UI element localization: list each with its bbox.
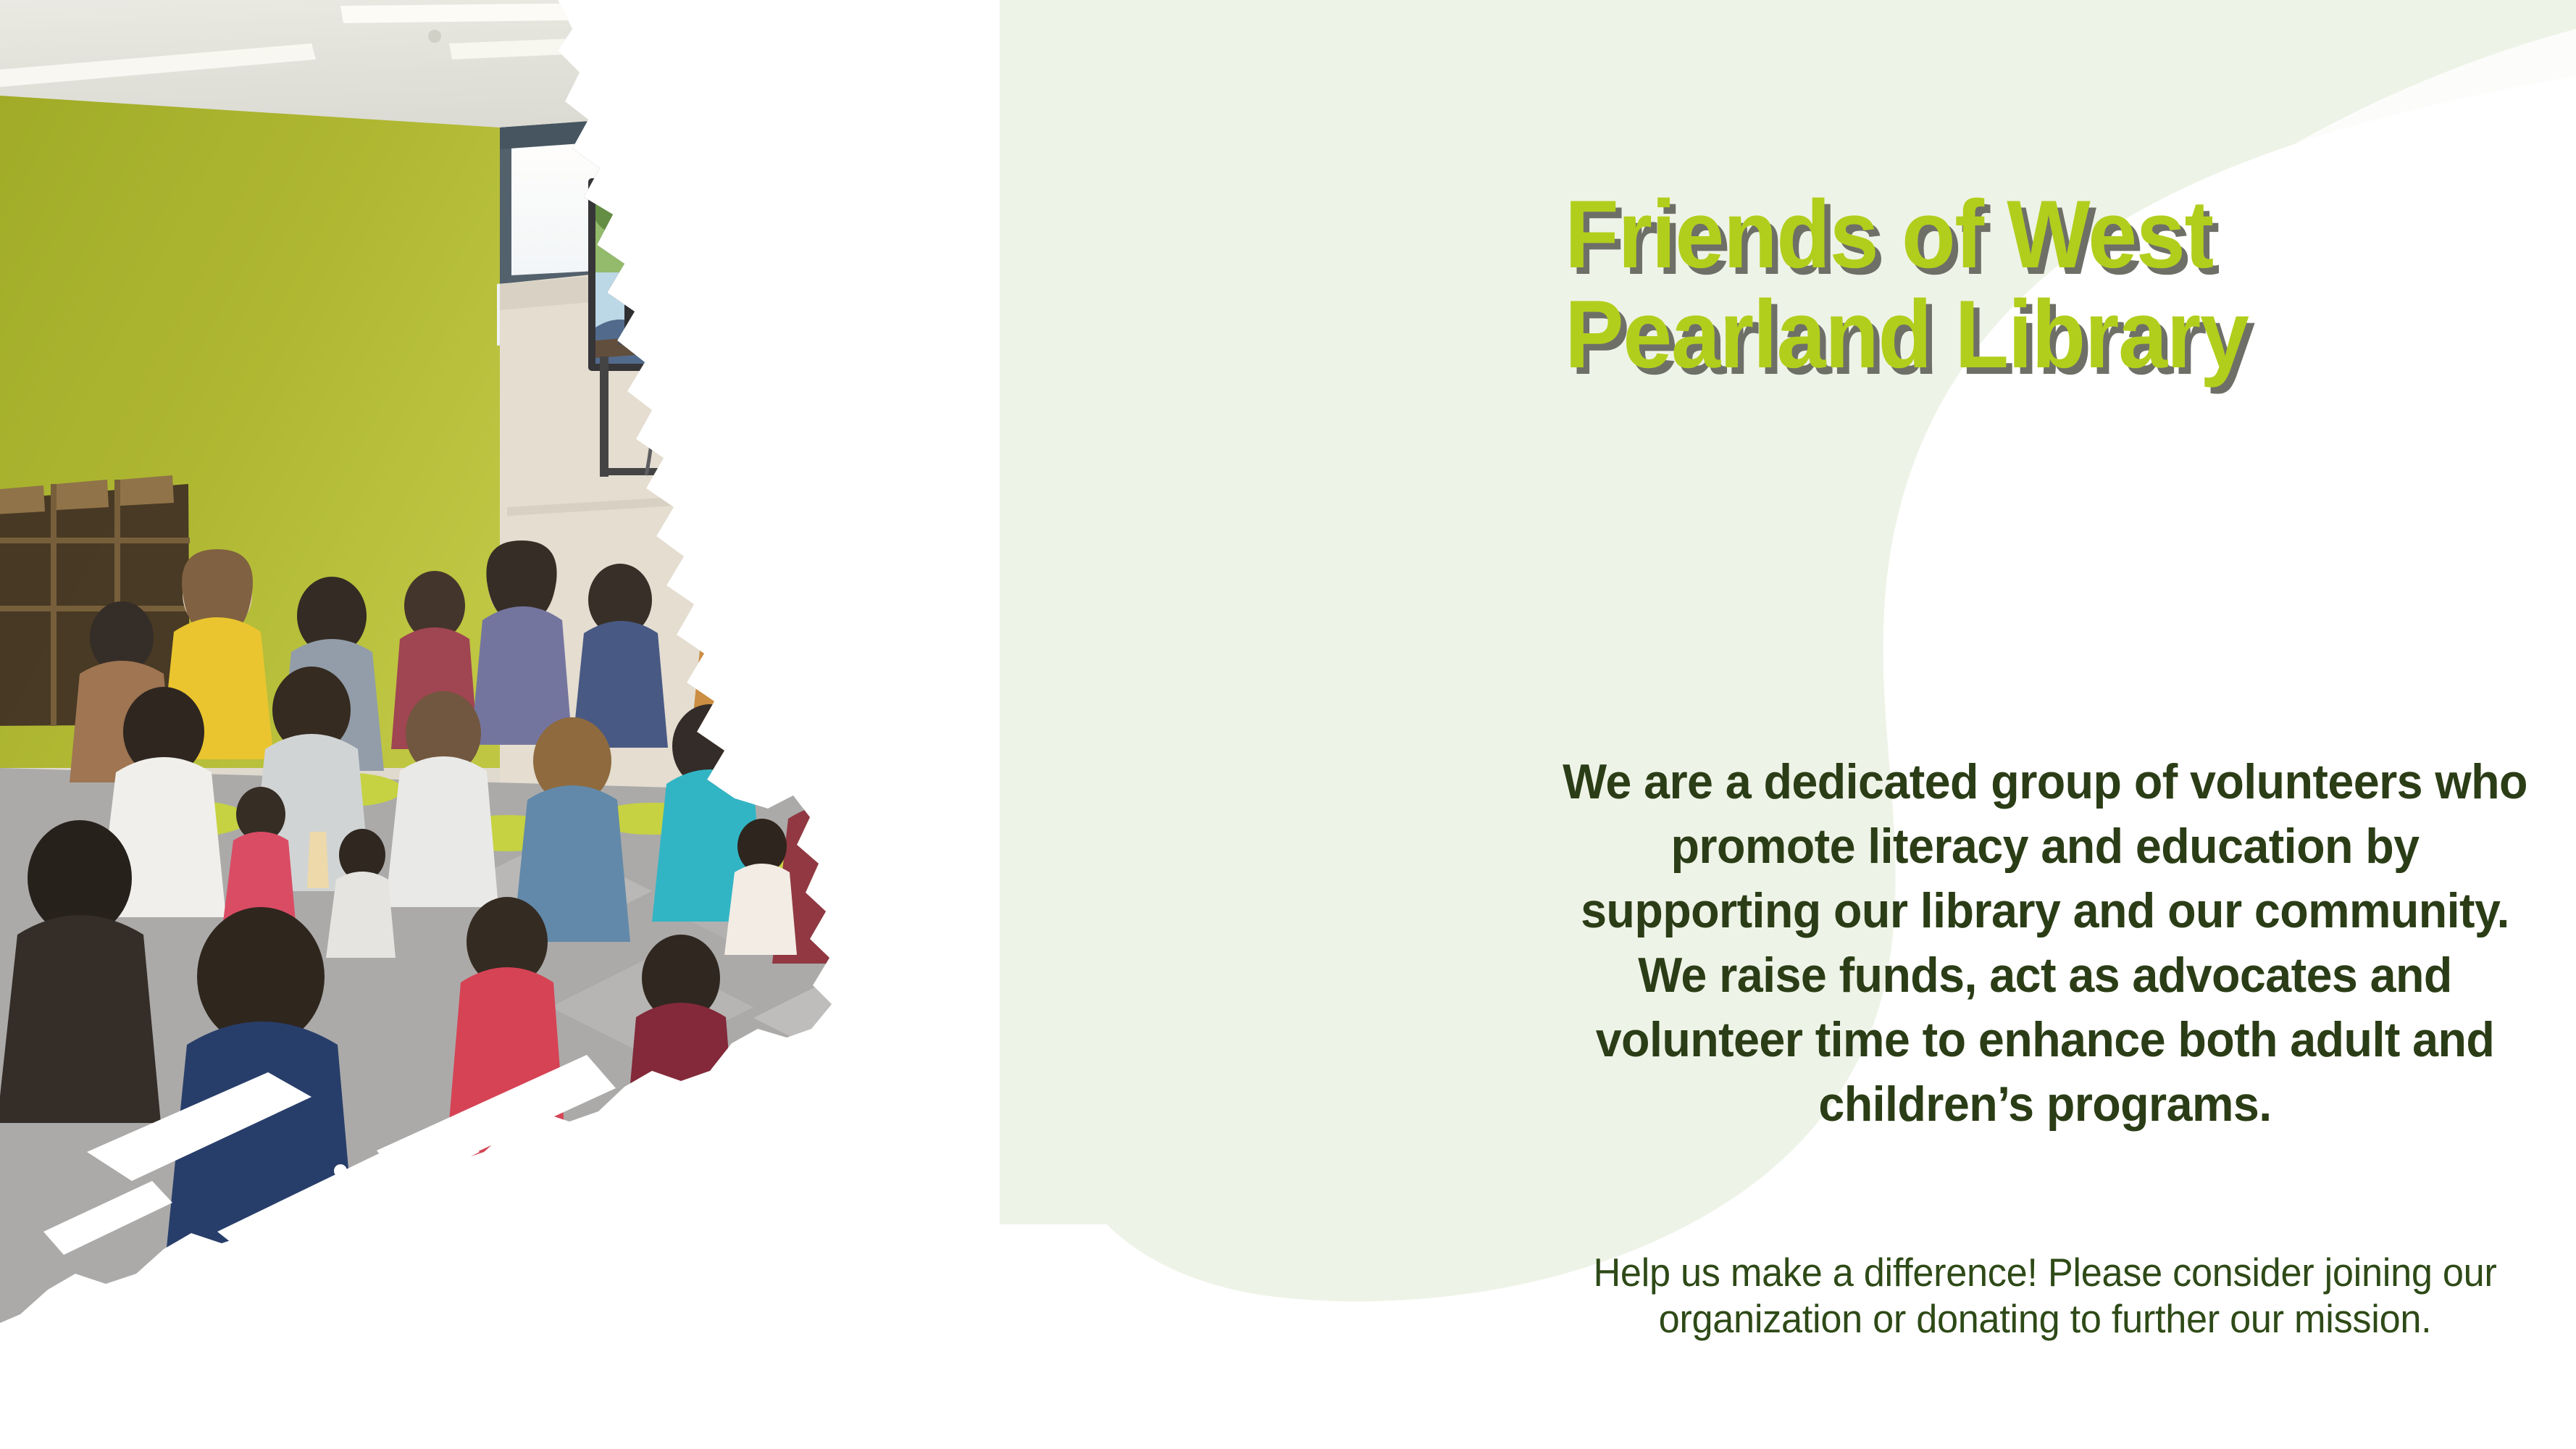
picture-book [866,422,921,490]
wall-column [1260,214,1307,819]
ceiling-light-strip-4 [826,62,1279,101]
display-screen: Time For a Book! [588,156,906,371]
orange-bag [891,859,952,939]
library-storytime-photo: Time For a Book! [0,0,1492,1449]
screen-caption-line2: Book! [704,270,790,307]
call-to-action-text: Help us make a difference! Please consid… [1561,1250,2529,1342]
photo-illustration: Time For a Book! [0,0,1492,1449]
screen-caption-line1: Time For a [668,230,826,267]
mission-paragraph: We are a dedicated group of volunteers w… [1561,750,2529,1137]
book-stack [695,313,724,335]
ceiling-vent [831,117,847,133]
cloud-shape [644,156,871,305]
black-backpack [959,975,1021,1074]
promotional-slide: Time For a Book! [0,0,2576,1449]
text-panel: Friends of West Pearland Library We are … [1514,0,2576,1449]
organization-title: Friends of West Pearland Library [1565,185,2451,385]
wall-outlet [790,400,808,425]
librarian-presenter [866,346,994,652]
